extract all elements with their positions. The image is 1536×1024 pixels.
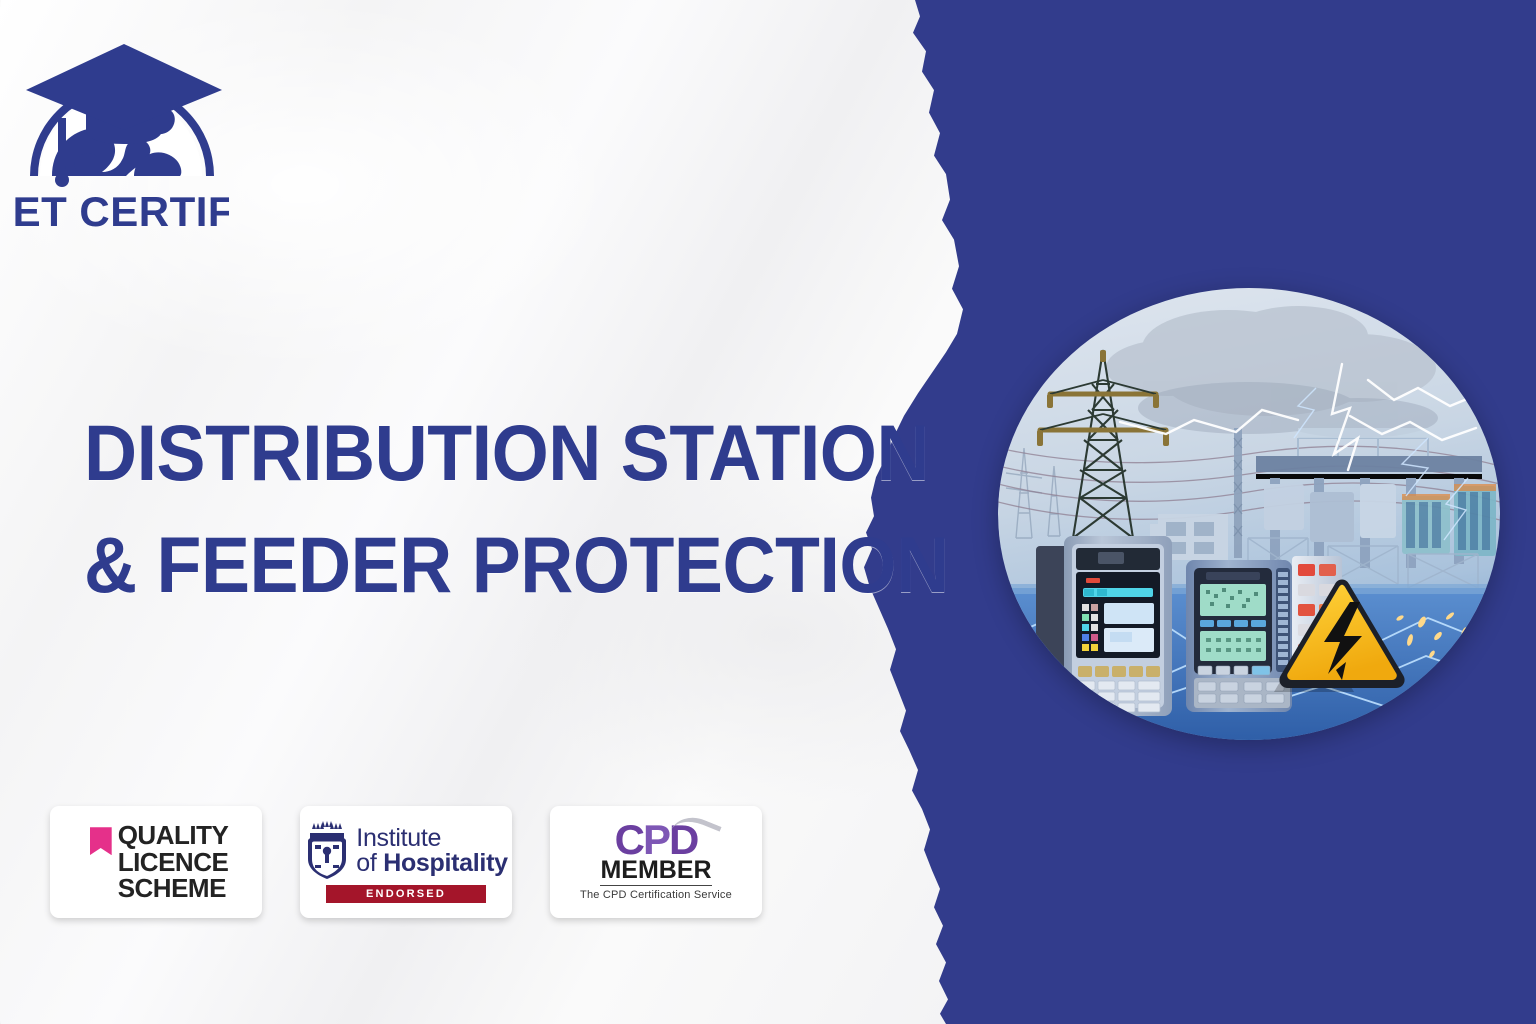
banner-stage: GET CERTIFY DISTRIBUTION STATION & FEEDE…: [0, 0, 1536, 1024]
qls-line-1: QUALITY: [118, 822, 229, 849]
accreditation-badges: QUALITY LICENCE SCHEME: [50, 806, 762, 918]
hero-image-circle: [998, 288, 1500, 740]
qls-line-2: LICENCE: [118, 849, 229, 876]
bookmark-icon: [90, 827, 112, 855]
power-substation-illustration: [998, 288, 1500, 740]
ioh-line-2: of Hospitality: [356, 851, 507, 876]
qls-line-3: SCHEME: [118, 875, 229, 902]
ioh-of: of: [356, 849, 383, 877]
qls-label: QUALITY LICENCE SCHEME: [118, 822, 229, 902]
badge-cpd-member[interactable]: CPD MEMBER The CPD Certification Service: [550, 806, 762, 918]
brand-logo[interactable]: GET CERTIFY: [14, 26, 229, 236]
title-line-2: & FEEDER PROTECTION: [84, 509, 772, 621]
graduation-cap-globe-icon: GET CERTIFY: [14, 26, 229, 236]
page-title: DISTRIBUTION STATION & FEEDER PROTECTION: [84, 397, 772, 621]
svg-text:GET CERTIFY: GET CERTIFY: [14, 188, 229, 235]
ioh-endorsed-ribbon: ENDORSED: [326, 885, 486, 903]
heraldic-crest-icon: [304, 821, 350, 881]
cpd-subtitle: The CPD Certification Service: [580, 889, 732, 903]
ioh-wordmark: Institute of Hospitality: [356, 826, 507, 876]
title-line-1: DISTRIBUTION STATION: [84, 397, 772, 509]
ioh-hospitality: Hospitality: [383, 849, 508, 877]
badge-quality-licence-scheme[interactable]: QUALITY LICENCE SCHEME: [50, 806, 262, 918]
badge-institute-of-hospitality[interactable]: Institute of Hospitality ENDORSED: [300, 806, 512, 918]
ioh-line-1: Institute: [356, 826, 507, 851]
cpd-member-label: MEMBER: [600, 858, 711, 886]
